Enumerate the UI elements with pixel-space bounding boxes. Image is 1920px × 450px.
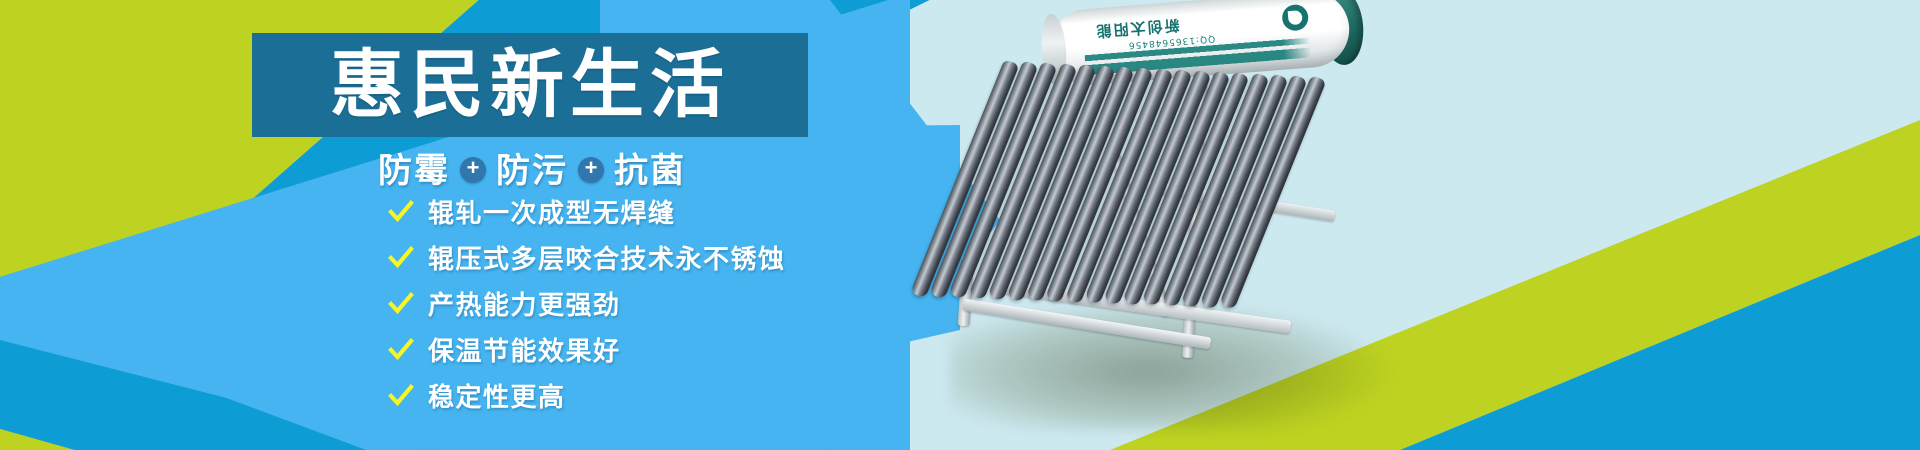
banner-content: 惠民新生活 防霉 + 防污 + 抗菌 辊轧一次成型无焊缝 辊压式多层咬合技术永不… (0, 0, 1000, 450)
subtitle-word-1: 防霉 (378, 143, 450, 192)
feature-text: 产热能力更强劲 (428, 285, 621, 322)
plus-glyph: + (467, 157, 480, 179)
check-icon (388, 383, 414, 409)
list-item: 保温节能效果好 (388, 331, 786, 368)
check-icon (388, 245, 414, 271)
plus-icon: + (460, 157, 486, 183)
feature-text: 保温节能效果好 (428, 331, 621, 368)
title-box: 惠民新生活 (252, 33, 808, 137)
feature-text: 稳定性更高 (428, 377, 566, 414)
solar-water-heater-image: 新创太阳能 QQ:1365648456 (940, 0, 1500, 450)
feature-list: 辊轧一次成型无焊缝 辊压式多层咬合技术永不锈蚀 产热能力更强劲 保温节能效果好 (388, 193, 786, 414)
check-icon (388, 337, 414, 363)
feature-text: 辊轧一次成型无焊缝 (428, 193, 676, 230)
promo-banner: 惠民新生活 防霉 + 防污 + 抗菌 辊轧一次成型无焊缝 辊压式多层咬合技术永不… (0, 0, 1920, 450)
list-item: 辊压式多层咬合技术永不锈蚀 (388, 239, 786, 276)
plus-glyph: + (585, 157, 598, 179)
list-item: 产热能力更强劲 (388, 285, 786, 322)
feature-text: 辊压式多层咬合技术永不锈蚀 (428, 239, 786, 276)
plus-icon: + (578, 157, 604, 183)
subtitle-row: 防霉 + 防污 + 抗菌 (252, 143, 812, 192)
subtitle-word-2: 防污 (496, 143, 568, 192)
tank-logo-icon (1281, 4, 1309, 32)
check-icon (388, 199, 414, 225)
check-icon (388, 291, 414, 317)
list-item: 稳定性更高 (388, 377, 786, 414)
page-title: 惠民新生活 (330, 48, 730, 122)
list-item: 辊轧一次成型无焊缝 (388, 193, 786, 230)
subtitle-word-3: 抗菌 (614, 143, 686, 192)
